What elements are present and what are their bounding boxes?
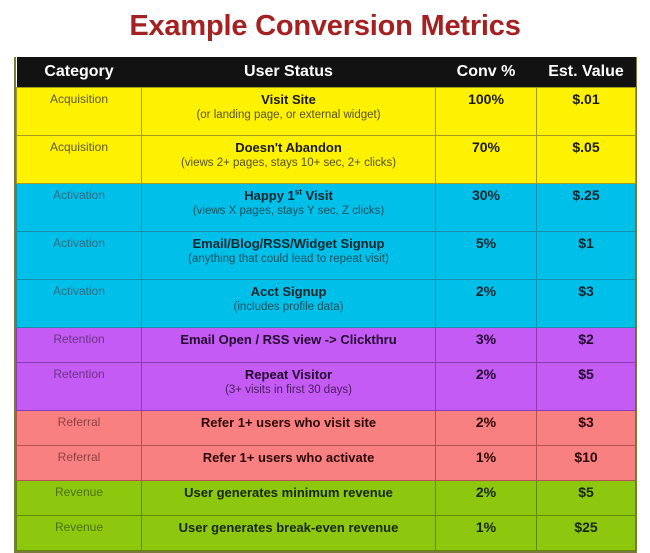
table-row: ReferralRefer 1+ users who visit site2%$… bbox=[17, 411, 636, 446]
status-main-text: Visit Site bbox=[146, 90, 431, 108]
status-main-text: Email Open / RSS view -> Clickthru bbox=[146, 330, 431, 348]
status-main-text: Refer 1+ users who visit site bbox=[146, 413, 431, 431]
cell-est-value: $25 bbox=[537, 516, 636, 551]
status-sub-text: (views X pages, stays Y sec, Z clicks) bbox=[146, 204, 431, 219]
cell-user-status: Acct Signup(includes profile data) bbox=[142, 280, 436, 328]
status-main-text: Email/Blog/RSS/Widget Signup bbox=[146, 234, 431, 252]
cell-category: Activation bbox=[17, 184, 142, 232]
cell-category: Revenue bbox=[17, 516, 142, 551]
table-row: ActivationAcct Signup(includes profile d… bbox=[17, 280, 636, 328]
cell-user-status: Email Open / RSS view -> Clickthru bbox=[142, 328, 436, 363]
cell-est-value: $.05 bbox=[537, 136, 636, 184]
status-sub-text: (includes profile data) bbox=[146, 300, 431, 315]
cell-category: Acquisition bbox=[17, 88, 142, 136]
status-ordinal-suffix: st bbox=[295, 188, 302, 197]
cell-conv-pct: 3% bbox=[436, 328, 537, 363]
cell-user-status: User generates minimum revenue bbox=[142, 481, 436, 516]
table-row: ReferralRefer 1+ users who activate1%$10 bbox=[17, 446, 636, 481]
cell-user-status: Refer 1+ users who visit site bbox=[142, 411, 436, 446]
status-main-text: Doesn't Abandon bbox=[146, 138, 431, 156]
table-row: RetentionEmail Open / RSS view -> Clickt… bbox=[17, 328, 636, 363]
cell-conv-pct: 30% bbox=[436, 184, 537, 232]
cell-est-value: $10 bbox=[537, 446, 636, 481]
table-row: ActivationEmail/Blog/RSS/Widget Signup(a… bbox=[17, 232, 636, 280]
cell-est-value: $3 bbox=[537, 411, 636, 446]
column-header-est-value: Est. Value bbox=[537, 57, 636, 88]
cell-category: Revenue bbox=[17, 481, 142, 516]
table-body: AcquisitionVisit Site(or landing page, o… bbox=[17, 88, 636, 551]
cell-conv-pct: 2% bbox=[436, 280, 537, 328]
status-main-text: User generates break-even revenue bbox=[146, 518, 431, 536]
status-main-text: Repeat Visitor bbox=[146, 365, 431, 383]
cell-category: Activation bbox=[17, 280, 142, 328]
status-sub-text: (views 2+ pages, stays 10+ sec, 2+ click… bbox=[146, 156, 431, 171]
cell-user-status: Visit Site(or landing page, or external … bbox=[142, 88, 436, 136]
status-sub-text: (anything that could lead to repeat visi… bbox=[146, 252, 431, 267]
cell-est-value: $1 bbox=[537, 232, 636, 280]
status-main-text: User generates minimum revenue bbox=[146, 483, 431, 501]
cell-est-value: $.01 bbox=[537, 88, 636, 136]
cell-category: Referral bbox=[17, 411, 142, 446]
table-row: RetentionRepeat Visitor(3+ visits in fir… bbox=[17, 363, 636, 411]
cell-category: Retention bbox=[17, 328, 142, 363]
column-header-conv-pct: Conv % bbox=[436, 57, 537, 88]
cell-conv-pct: 2% bbox=[436, 363, 537, 411]
status-main-text: Acct Signup bbox=[146, 282, 431, 300]
status-sub-text: (3+ visits in first 30 days) bbox=[146, 383, 431, 398]
cell-est-value: $5 bbox=[537, 363, 636, 411]
cell-conv-pct: 2% bbox=[436, 411, 537, 446]
table-header: Category User Status Conv % Est. Value bbox=[17, 57, 636, 88]
table-row: AcquisitionVisit Site(or landing page, o… bbox=[17, 88, 636, 136]
cell-user-status: Repeat Visitor(3+ visits in first 30 day… bbox=[142, 363, 436, 411]
table-row: ActivationHappy 1st Visit(views X pages,… bbox=[17, 184, 636, 232]
cell-conv-pct: 5% bbox=[436, 232, 537, 280]
page-title: Example Conversion Metrics bbox=[0, 0, 650, 46]
cell-user-status: Email/Blog/RSS/Widget Signup(anything th… bbox=[142, 232, 436, 280]
cell-conv-pct: 100% bbox=[436, 88, 537, 136]
table-row: AcquisitionDoesn't Abandon(views 2+ page… bbox=[17, 136, 636, 184]
cell-category: Retention bbox=[17, 363, 142, 411]
cell-conv-pct: 2% bbox=[436, 481, 537, 516]
cell-category: Activation bbox=[17, 232, 142, 280]
cell-est-value: $3 bbox=[537, 280, 636, 328]
table-row: RevenueUser generates minimum revenue2%$… bbox=[17, 481, 636, 516]
cell-est-value: $5 bbox=[537, 481, 636, 516]
column-header-user-status: User Status bbox=[142, 57, 436, 88]
status-main-text: Refer 1+ users who activate bbox=[146, 448, 431, 466]
cell-conv-pct: 1% bbox=[436, 446, 537, 481]
status-sub-text: (or landing page, or external widget) bbox=[146, 108, 431, 123]
cell-conv-pct: 1% bbox=[436, 516, 537, 551]
cell-est-value: $2 bbox=[537, 328, 636, 363]
table-row: RevenueUser generates break-even revenue… bbox=[17, 516, 636, 551]
cell-category: Acquisition bbox=[17, 136, 142, 184]
cell-user-status: Refer 1+ users who activate bbox=[142, 446, 436, 481]
cell-conv-pct: 70% bbox=[436, 136, 537, 184]
cell-category: Referral bbox=[17, 446, 142, 481]
cell-est-value: $.25 bbox=[537, 184, 636, 232]
table-header-row: Category User Status Conv % Est. Value bbox=[17, 57, 636, 88]
cell-user-status: Doesn't Abandon(views 2+ pages, stays 10… bbox=[142, 136, 436, 184]
status-main-text: Happy 1st Visit bbox=[146, 186, 431, 204]
cell-user-status: User generates break-even revenue bbox=[142, 516, 436, 551]
column-header-category: Category bbox=[17, 57, 142, 88]
cell-user-status: Happy 1st Visit(views X pages, stays Y s… bbox=[142, 184, 436, 232]
